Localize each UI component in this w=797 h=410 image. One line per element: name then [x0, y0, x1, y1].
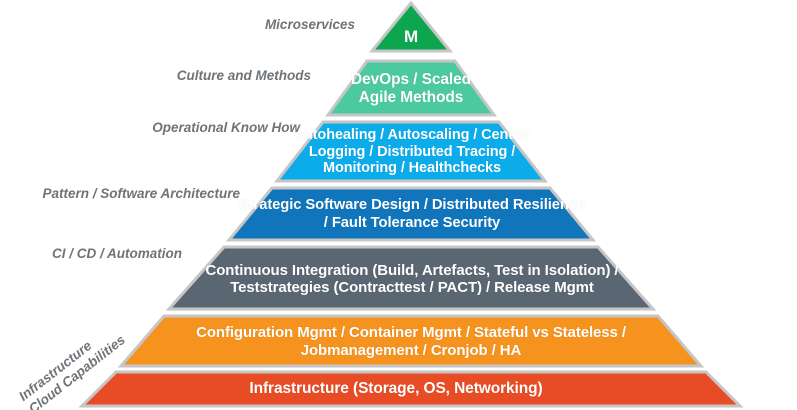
side-label-operational-know-how: Operational Know How	[85, 120, 300, 135]
tier-3-shape[interactable]	[277, 122, 545, 181]
side-label-pattern-software-architecture: Pattern / Software Architecture	[12, 186, 240, 201]
tier-4-shape[interactable]	[229, 188, 593, 240]
tier-6-shape[interactable]	[121, 316, 701, 366]
pyramid-diagram: M DevOps / Scaled Agile Methods Autoheal…	[0, 0, 797, 410]
tier-7-shape[interactable]	[82, 372, 740, 406]
side-label-culture-and-methods: Culture and Methods	[96, 68, 311, 83]
tier-2-shape[interactable]	[328, 61, 494, 115]
side-label-ci-cd-automation: CI / CD / Automation	[22, 246, 182, 261]
tier-5-shape[interactable]	[169, 247, 653, 309]
side-label-microservices: Microservices	[140, 17, 355, 32]
tier-1-shape[interactable]	[372, 3, 450, 51]
